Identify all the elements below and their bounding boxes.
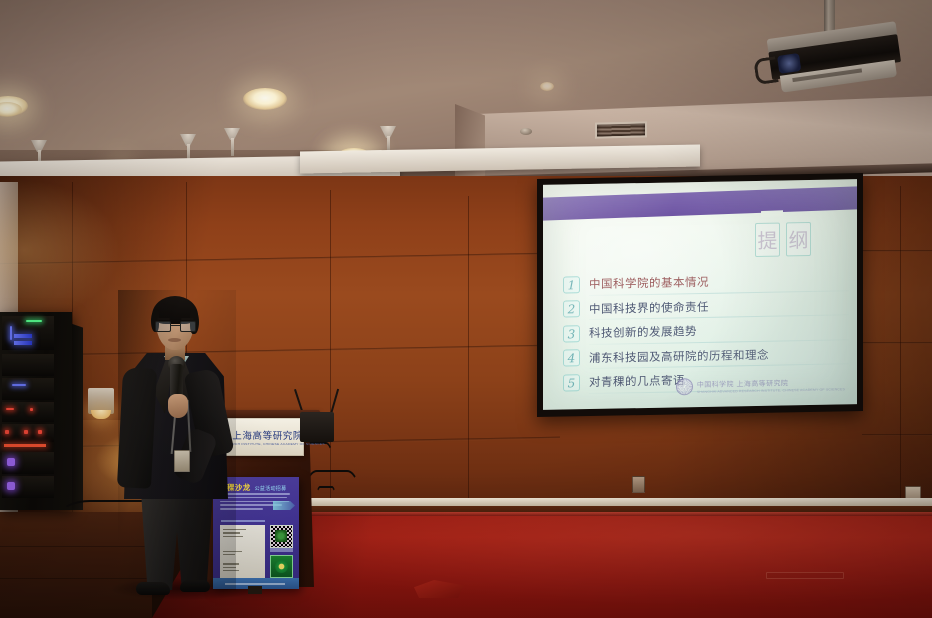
speaker-mouth (168, 338, 181, 342)
banner-badge-emblem-icon (275, 560, 288, 573)
qr-code-center-logo (275, 530, 287, 542)
wall-seam (900, 186, 901, 512)
list-item-number: 1 (563, 276, 580, 293)
rack-meter-bar (14, 341, 32, 345)
floor-access-plate (766, 572, 844, 579)
rack-unit (2, 354, 54, 376)
list-item-number: 4 (563, 349, 580, 366)
qr-code-label (270, 548, 293, 552)
eyeglasses-icon (155, 321, 196, 332)
speaker-shoe (136, 582, 170, 595)
rail-hanger (231, 138, 234, 156)
list-item-number: 2 (563, 300, 580, 317)
eyeglass-lens (155, 321, 171, 332)
list-item-label: 浦东科技园及高研院的历程和理念 (589, 346, 769, 365)
equipment-rack (0, 312, 72, 510)
wall-seam (468, 196, 469, 512)
speaker-arm (117, 367, 157, 489)
rack-status-led[interactable] (10, 326, 12, 340)
ceiling-downlight (540, 82, 554, 91)
list-item-label: 对青稞的几点寄语 (589, 373, 685, 391)
list-item-label: 中国科学院的基本情况 (589, 274, 709, 292)
projection-screen: 提 纲 1 中国科学院的基本情况 2 中国科技界的使命责任 3 科技创新的发展趋… (537, 173, 863, 417)
list-item-number: 3 (563, 325, 580, 342)
banner-stand-base (248, 586, 262, 594)
list-item-label: 中国科技界的使命责任 (589, 299, 709, 317)
rack-status-led[interactable] (24, 430, 28, 434)
eyeglass-lens (180, 321, 196, 332)
rack-meter-bar (4, 444, 46, 447)
wall-seam (862, 434, 932, 436)
rack-status-led[interactable] (6, 408, 14, 410)
rack-unit (2, 424, 54, 442)
projector-lens-icon (777, 53, 801, 74)
cas-seal-icon (676, 378, 693, 395)
banner-arrow-icon (273, 501, 295, 510)
rack-status-led[interactable] (5, 430, 9, 434)
rack-status-led[interactable] (30, 408, 33, 411)
rack-status-led[interactable] (38, 430, 42, 434)
presentation-photo-scene: 提 纲 1 中国科学院的基本情况 2 中国科技界的使命责任 3 科技创新的发展趋… (0, 0, 932, 618)
slide-logo-text: 中国科学院 上海高等研究院 SHANGHAI ADVANCED RESEARCH… (697, 377, 845, 394)
projected-slide: 提 纲 1 中国科学院的基本情况 2 中国科技界的使命责任 3 科技创新的发展趋… (543, 179, 857, 410)
slide-title-char: 提 (755, 223, 780, 257)
list-item-label: 科技创新的发展趋势 (589, 323, 697, 341)
rack-unit (2, 378, 54, 400)
speaker-eyebrow (181, 318, 194, 320)
wall-seam (862, 342, 932, 344)
rack-unit (2, 402, 54, 422)
ceiling-downlight (243, 88, 287, 110)
ceiling-soffit-side (455, 104, 485, 186)
slide-title: 提 纲 (755, 222, 811, 257)
air-vent-icon (595, 121, 647, 138)
slide-title-char: 纲 (786, 222, 811, 256)
speaker (118, 290, 236, 590)
speaker-hand (168, 394, 188, 418)
rack-meter-bar (14, 334, 32, 338)
wall-outlet-icon (632, 476, 645, 493)
speaker-legs (136, 490, 218, 590)
ceiling-sprinkler-icon (520, 128, 532, 135)
speaker-eyebrow (157, 318, 170, 320)
name-badge (174, 450, 190, 472)
slide-header-band (543, 186, 857, 220)
rack-status-led[interactable] (7, 458, 15, 466)
rack-status-led[interactable] (7, 482, 15, 490)
wall-seam (862, 250, 932, 252)
list-item-number: 5 (563, 374, 580, 391)
speaker-shoe (180, 580, 210, 592)
wireless-mic-receiver (300, 412, 334, 442)
slide-institution-logo: 中国科学院 上海高等研究院 SHANGHAI ADVANCED RESEARCH… (676, 375, 845, 395)
banner-subtitle: 公益活动招募 (255, 485, 287, 492)
slide-band-notch (761, 210, 783, 217)
eyeglass-bridge (171, 325, 180, 326)
rack-status-led[interactable] (12, 384, 26, 386)
rack-status-led[interactable] (26, 320, 42, 322)
